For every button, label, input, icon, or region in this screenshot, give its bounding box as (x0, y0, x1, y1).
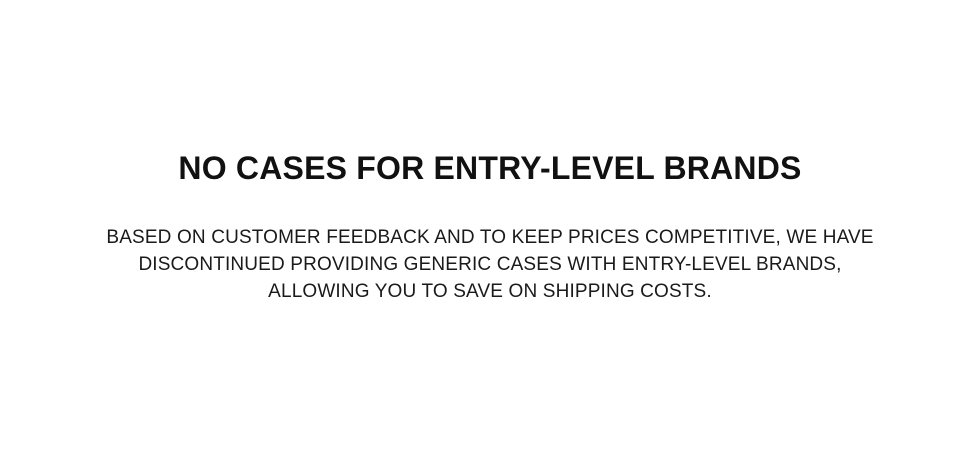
page-title: NO CASES FOR ENTRY-LEVEL BRANDS (178, 152, 801, 186)
promo-banner: NO CASES FOR ENTRY-LEVEL BRANDS BASED ON… (0, 0, 980, 450)
banner-description: BASED ON CUSTOMER FEEDBACK AND TO KEEP P… (90, 224, 890, 305)
